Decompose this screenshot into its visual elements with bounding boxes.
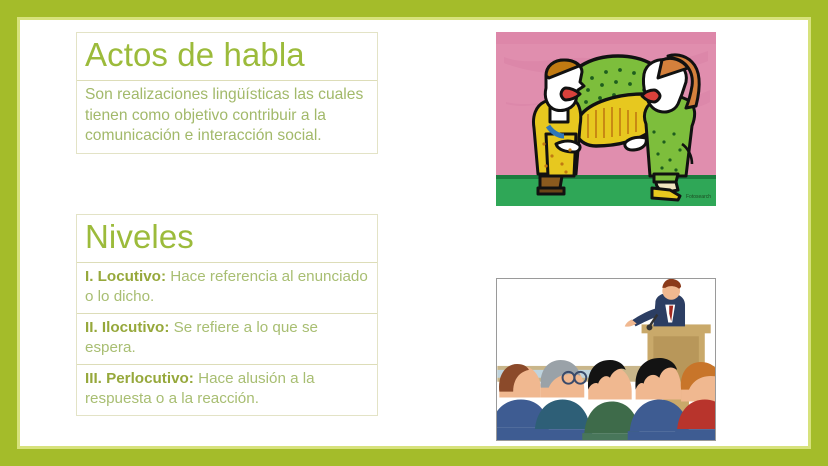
slide: Actos de habla Son realizaciones lingüís… <box>0 0 828 466</box>
conversation-image: Fotosearch <box>496 32 716 206</box>
actos-body: Son realizaciones lingüísticas las cuale… <box>85 85 369 147</box>
audience-image <box>496 278 716 441</box>
actos-de-habla-box: Actos de habla Son realizaciones lingüís… <box>76 32 378 154</box>
niveles-title-cell: Niveles <box>77 215 377 262</box>
nivel-locutivo: I. Locutivo: Hace referencia al enunciad… <box>85 267 369 307</box>
nivel-ilocutivo: II. Ilocutivo: Se refiere a lo que se es… <box>85 318 369 358</box>
actos-title-cell: Actos de habla <box>77 33 377 80</box>
niveles-box: Niveles I. Locutivo: Hace referencia al … <box>76 214 378 416</box>
actos-title: Actos de habla <box>85 37 369 74</box>
actos-body-cell: Son realizaciones lingüísticas las cuale… <box>77 80 377 153</box>
niveles-title: Niveles <box>85 219 369 256</box>
nivel-row: I. Locutivo: Hace referencia al enunciad… <box>77 262 377 313</box>
nivel-perlocutivo-label: III. Perlocutivo: <box>85 370 194 387</box>
nivel-row: III. Perlocutivo: Hace alusión a la resp… <box>77 364 377 415</box>
nivel-ilocutivo-label: II. Ilocutivo: <box>85 319 169 336</box>
nivel-locutivo-label: I. Locutivo: <box>85 268 166 285</box>
nivel-row: II. Ilocutivo: Se refiere a lo que se es… <box>77 313 377 364</box>
image-signature: Fotosearch <box>686 194 711 200</box>
nivel-perlocutivo: III. Perlocutivo: Hace alusión a la resp… <box>85 369 369 409</box>
